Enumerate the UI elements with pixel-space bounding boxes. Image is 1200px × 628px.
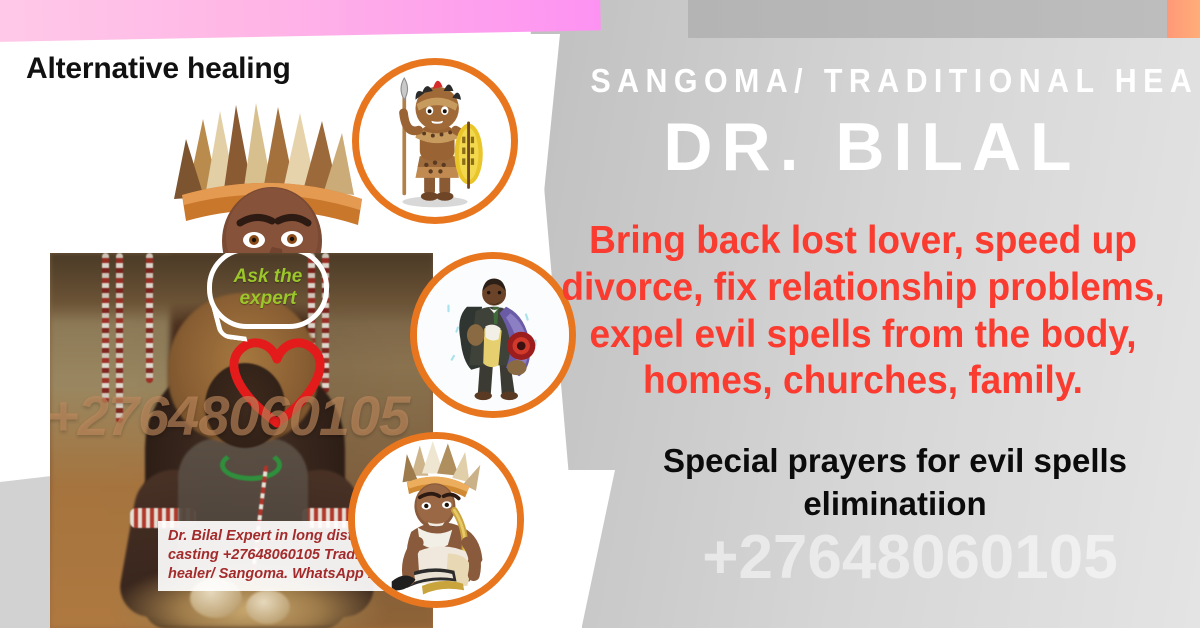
photo-bead-strand (102, 253, 109, 403)
special-prayers-text: Special prayers for evil spells eliminat… (600, 440, 1190, 526)
speech-bubble-text: Ask the expert (212, 266, 324, 311)
circle-badge-traditional-healer (410, 252, 576, 418)
poster-canvas: Alternative healing (0, 0, 1200, 628)
doctor-name-title: DR. BILAL (566, 108, 1178, 186)
kicker-headline: SANGOMA/ TRADITIONAL HEALER (590, 62, 1153, 100)
page-title: Alternative healing (26, 52, 291, 86)
zulu-warrior-cartoon-icon (359, 65, 511, 217)
top-grey-strip (688, 0, 1168, 38)
phone-watermark: +27648060105 (620, 522, 1200, 593)
photo-green-necklace (220, 449, 282, 481)
photo-bead-strand (146, 253, 153, 383)
circle-badge-zulu-warrior (352, 58, 518, 224)
services-text: Bring back lost lover, speed up divorce,… (556, 218, 1170, 405)
traditional-healer-illustration-icon (417, 259, 569, 411)
top-orange-strip (1167, 0, 1200, 38)
photo-gourd (246, 590, 290, 624)
sangoma-dancer-illustration-icon (355, 439, 517, 601)
circle-badge-sangoma-dancer (348, 432, 524, 608)
photo-phone-watermark: +27648060105 (50, 383, 433, 448)
